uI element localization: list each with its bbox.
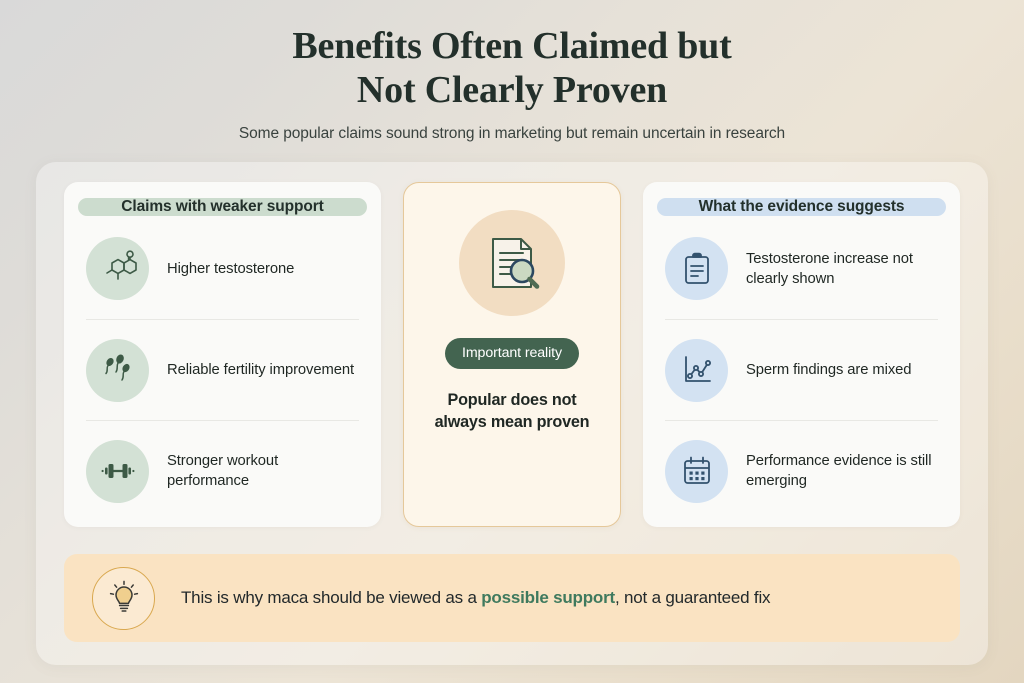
list-item-label: Reliable fertility improvement xyxy=(167,360,354,380)
callout-text-before: This is why maca should be viewed as a xyxy=(181,588,481,607)
list-item[interactable]: Higher testosterone xyxy=(86,218,359,319)
page-subtitle: Some popular claims sound strong in mark… xyxy=(0,125,1024,143)
list-item[interactable]: Sperm findings are mixed xyxy=(665,319,938,420)
document-magnifier-icon xyxy=(459,210,565,316)
page-title-line-2: Not Clearly Proven xyxy=(0,68,1024,112)
center-statement: Popular does not always mean proven xyxy=(435,389,590,433)
callout-text: This is why maca should be viewed as a p… xyxy=(181,588,770,608)
left-column-card: Claims with weaker support xyxy=(64,182,381,527)
columns-container: Claims with weaker support xyxy=(64,182,960,527)
callout-highlight: possible support xyxy=(481,588,615,607)
left-column-heading: Claims with weaker support xyxy=(78,198,367,216)
left-column-rows: Higher testosterone Reliable fert xyxy=(64,218,381,521)
page-header: Benefits Often Claimed but Not Clearly P… xyxy=(0,0,1024,143)
list-item[interactable]: Stronger workout performance xyxy=(86,420,359,521)
molecule-icon xyxy=(86,237,149,300)
clipboard-icon xyxy=(665,237,728,300)
center-statement-line-1: Popular does not xyxy=(435,389,590,411)
list-item-label: Sperm findings are mixed xyxy=(746,360,911,380)
list-item[interactable]: Performance evidence is still emerging xyxy=(665,420,938,521)
content-panel: Claims with weaker support xyxy=(36,162,988,665)
sperm-icon xyxy=(86,339,149,402)
list-item-label: Testosterone increase not clearly shown xyxy=(746,249,938,289)
list-item[interactable]: Testosterone increase not clearly shown xyxy=(665,218,938,319)
page-title-line-1: Benefits Often Claimed but xyxy=(0,24,1024,68)
dumbbell-icon xyxy=(86,440,149,503)
calendar-icon xyxy=(665,440,728,503)
list-item-label: Performance evidence is still emerging xyxy=(746,451,938,491)
list-item-label: Higher testosterone xyxy=(167,259,294,279)
important-reality-badge: Important reality xyxy=(445,338,579,369)
lightbulb-icon xyxy=(92,567,155,630)
right-column-rows: Testosterone increase not clearly shown xyxy=(643,218,960,521)
line-chart-icon xyxy=(665,339,728,402)
center-statement-line-2: always mean proven xyxy=(435,411,590,433)
callout-text-after: , not a guaranteed fix xyxy=(615,588,770,607)
bottom-callout: This is why maca should be viewed as a p… xyxy=(64,554,960,642)
list-item-label: Stronger workout performance xyxy=(167,451,359,491)
center-highlight-card: Important reality Popular does not alway… xyxy=(403,182,621,527)
list-item[interactable]: Reliable fertility improvement xyxy=(86,319,359,420)
page-title: Benefits Often Claimed but Not Clearly P… xyxy=(0,24,1024,112)
right-column-heading: What the evidence suggests xyxy=(657,198,946,216)
right-column-card: What the evidence suggests Testosterone … xyxy=(643,182,960,527)
